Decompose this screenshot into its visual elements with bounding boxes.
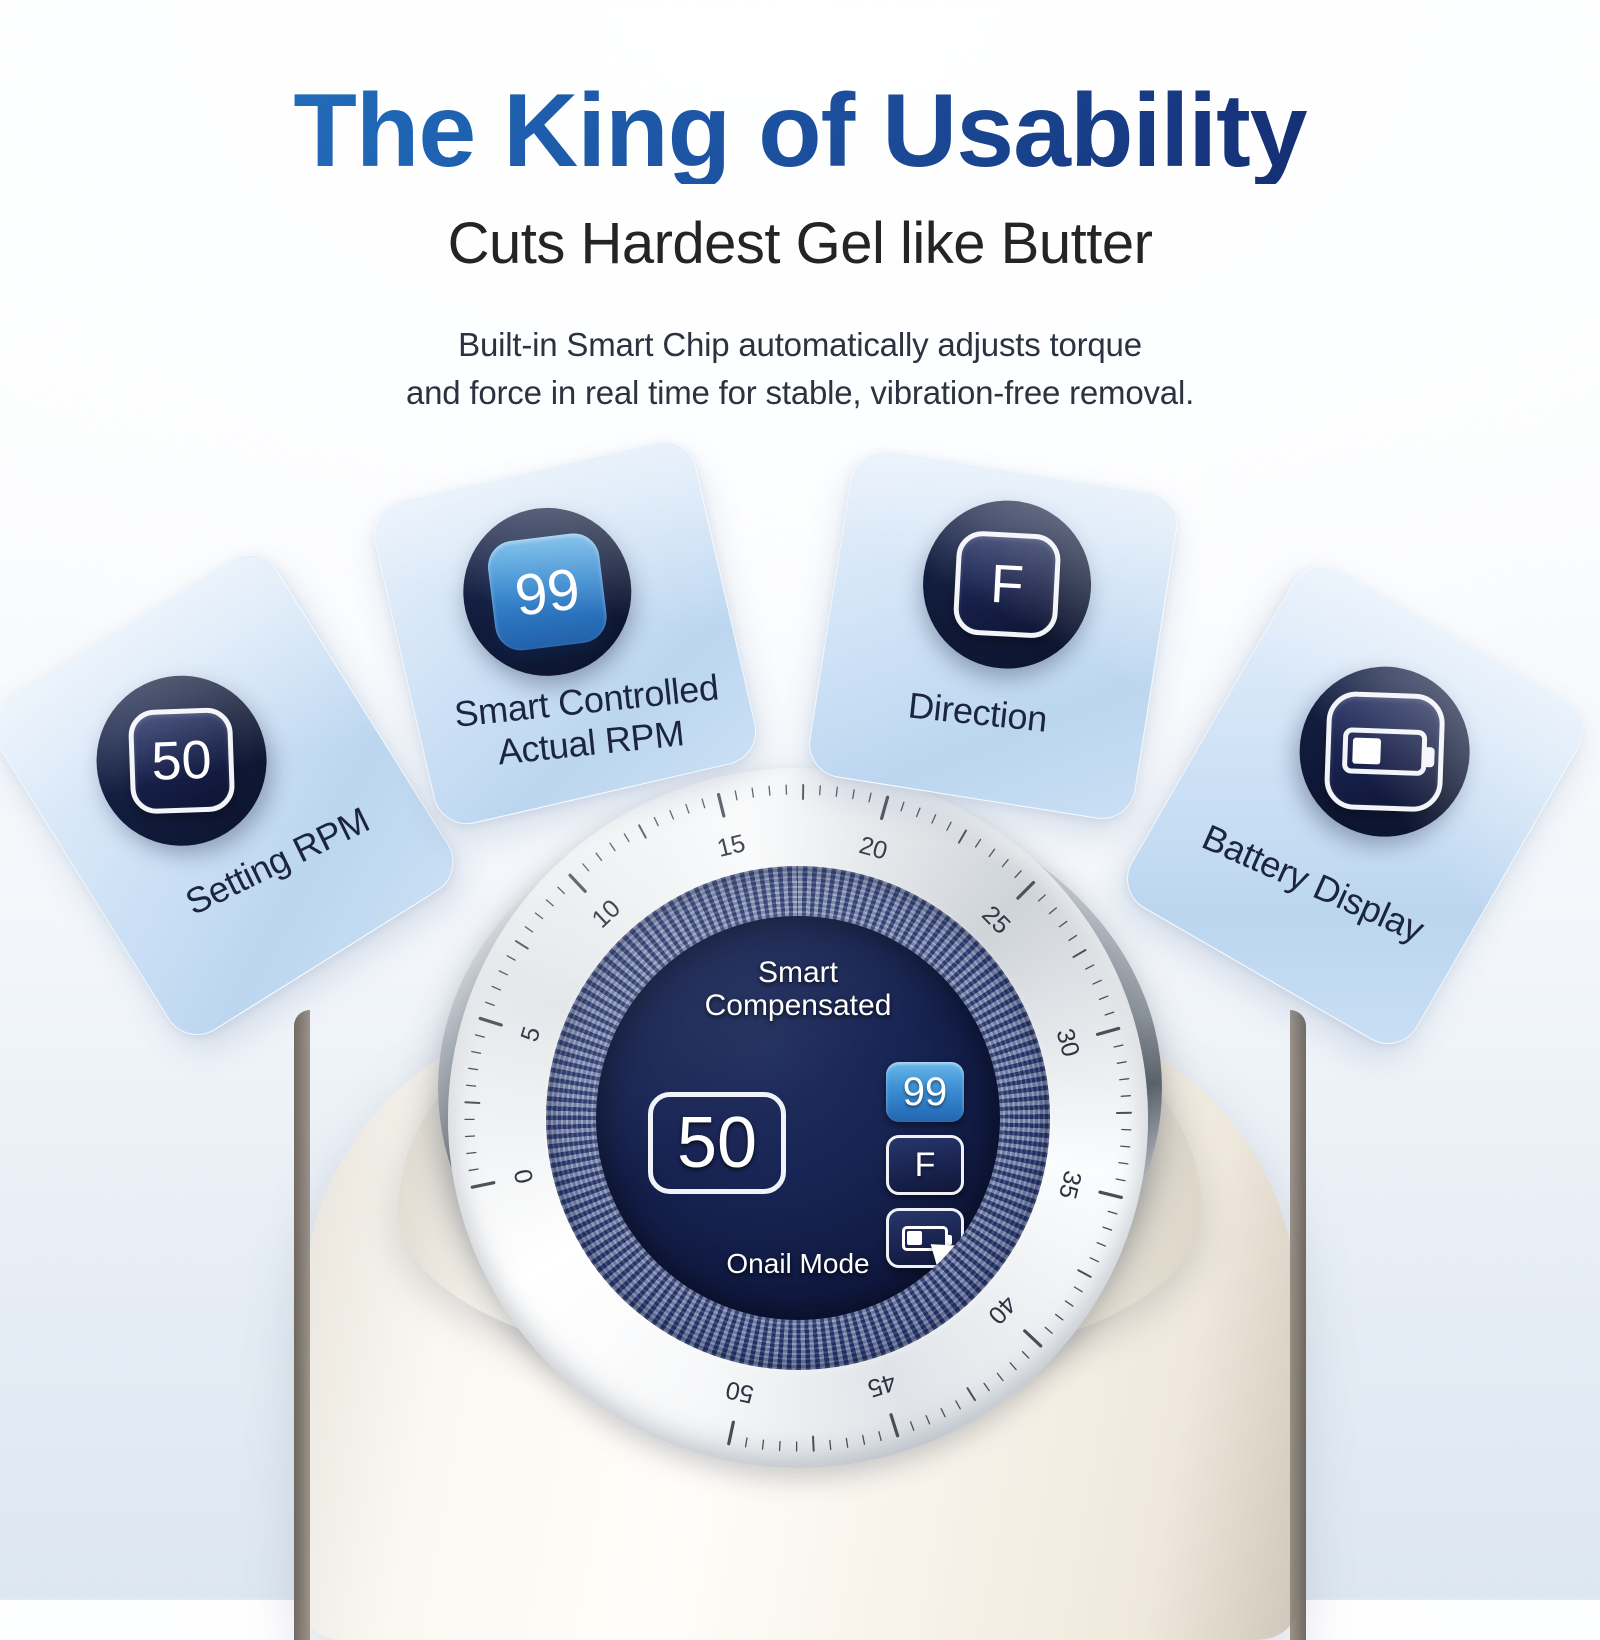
- battery-badge-icon: [1269, 636, 1501, 868]
- svg-text:0: 0: [509, 1167, 539, 1186]
- actual-rpm-indicator[interactable]: 99: [886, 1062, 964, 1122]
- page-subtitle: Cuts Hardest Gel like Butter: [0, 210, 1600, 277]
- description-line-1: Built-in Smart Chip automatically adjust…: [0, 321, 1600, 369]
- rpm-badge-icon: 50: [64, 644, 298, 878]
- dial-screen: Smart Compensated 50 99 F Onail Mode: [596, 916, 1000, 1320]
- svg-text:5: 5: [515, 1023, 546, 1045]
- svg-text:30: 30: [1050, 1026, 1084, 1060]
- actual-rpm-badge-icon: 99: [447, 491, 648, 692]
- screen-title-line-2: Compensated: [596, 989, 1000, 1022]
- page-title: The King of Usability: [0, 0, 1600, 184]
- screen-title-line-1: Smart: [596, 956, 1000, 989]
- setting-rpm-readout[interactable]: 50: [648, 1092, 786, 1194]
- direction-badge-icon: F: [911, 488, 1103, 680]
- svg-text:35: 35: [1053, 1168, 1087, 1202]
- header-block: The King of Usability Cuts Hardest Gel l…: [0, 0, 1600, 417]
- page-description: Built-in Smart Chip automatically adjust…: [0, 321, 1600, 417]
- callout-card-direction[interactable]: F Direction: [804, 446, 1182, 824]
- svg-text:20: 20: [856, 831, 890, 865]
- actual-rpm-badge-value: 99: [485, 531, 610, 654]
- svg-text:45: 45: [864, 1368, 899, 1403]
- callout-label-actual-rpm: Smart Controlled Actual RPM: [442, 665, 735, 779]
- setting-rpm-badge-value: 50: [128, 707, 236, 815]
- svg-text:50: 50: [723, 1375, 756, 1408]
- screen-title: Smart Compensated: [596, 956, 1000, 1022]
- callout-label-direction: Direction: [845, 678, 1110, 748]
- dial-bezel: 05101520253035404550 Smart Compensated 5…: [448, 768, 1148, 1468]
- svg-text:15: 15: [714, 829, 748, 863]
- battery-glyph-icon: [1342, 727, 1428, 776]
- callout-card-battery-display[interactable]: Battery Display: [1115, 554, 1596, 1057]
- direction-badge-value: F: [952, 530, 1061, 639]
- svg-text:40: 40: [982, 1290, 1021, 1329]
- svg-text:10: 10: [587, 894, 626, 933]
- product-infographic: The King of Usability Cuts Hardest Gel l…: [0, 0, 1600, 1600]
- description-line-2: and force in real time for stable, vibra…: [0, 369, 1600, 417]
- svg-text:25: 25: [976, 900, 1015, 939]
- direction-indicator[interactable]: F: [886, 1135, 964, 1195]
